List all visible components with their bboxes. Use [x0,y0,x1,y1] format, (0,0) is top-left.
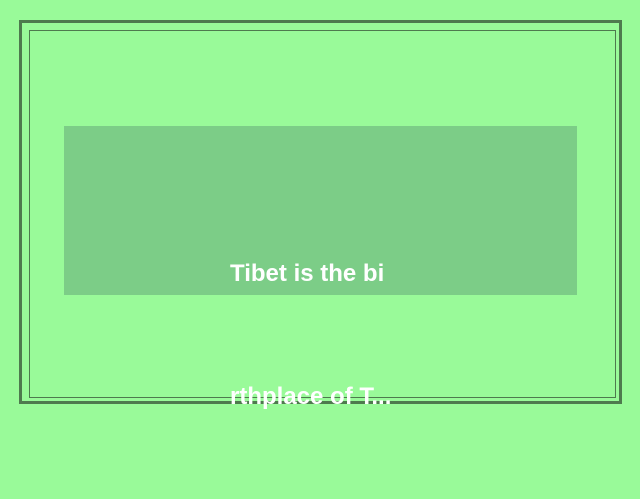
headline-line-2: rthplace of T... [230,376,440,417]
text-panel: Tibet is the bi rthplace of T... [64,126,577,295]
screenshot-canvas: Tibet is the bi rthplace of T... [0,0,640,425]
headline-line-1: Tibet is the bi [230,253,440,294]
headline-text: Tibet is the bi rthplace of T... [230,171,440,499]
